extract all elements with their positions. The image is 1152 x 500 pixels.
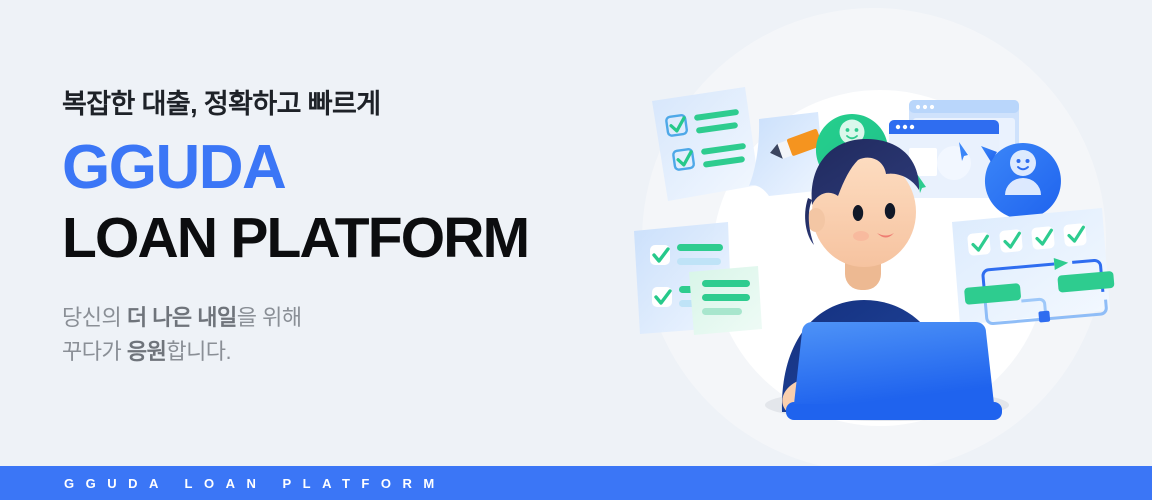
person-eye-left — [853, 205, 863, 221]
bottom-marquee-banner: GGUDA LOAN PLATFORM — [0, 466, 1152, 500]
person-eye-right — [885, 203, 895, 219]
hero-illustration — [612, 0, 1152, 466]
hero-brand-title: GGUDA — [62, 135, 622, 202]
tagline-1-strong: 더 나은 내일 — [127, 305, 237, 330]
tagline-1-post: 을 위해 — [237, 305, 302, 330]
laptop-base — [786, 402, 1002, 420]
hero-eyebrow: 복잡한 대출, 정확하고 빠르게 — [62, 88, 622, 122]
hero-tagline-line-1: 당신의 더 나은 내일을 위해 — [62, 301, 622, 335]
hero-section: 복잡한 대출, 정확하고 빠르게 GGUDA LOAN PLATFORM 당신의… — [0, 0, 1152, 466]
tagline-2-pre: 꾸다가 — [62, 339, 127, 364]
tagline-2-strong: 응원 — [127, 339, 166, 364]
hero-tagline-line-2: 꾸다가 응원합니다. — [62, 335, 622, 369]
checklist-document-top-left — [652, 87, 759, 201]
hero-product-title: LOAN PLATFORM — [62, 208, 622, 270]
flowchart-panel-right — [952, 208, 1117, 329]
green-note-card — [689, 266, 762, 335]
hero-tagline: 당신의 더 나은 내일을 위해 꾸다가 응원합니다. — [62, 301, 622, 369]
marquee-text: GGUDA LOAN PLATFORM — [64, 476, 446, 491]
tagline-1-pre: 당신의 — [62, 305, 127, 330]
laptop-screen — [794, 322, 994, 404]
tagline-2-post: 합니다. — [166, 339, 231, 364]
hero-copy-block: 복잡한 대출, 정확하고 빠르게 GGUDA LOAN PLATFORM 당신의… — [62, 88, 622, 369]
